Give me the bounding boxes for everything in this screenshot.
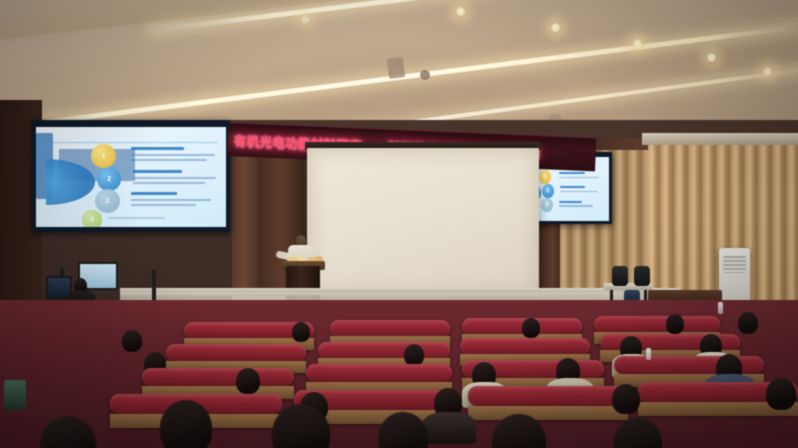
water-bottle	[646, 348, 651, 360]
slide-body-line	[133, 182, 205, 184]
slide-body-line	[559, 205, 593, 207]
slide-body-line	[131, 154, 215, 156]
ceiling-speaker-icon	[420, 70, 430, 80]
seat-row	[166, 344, 306, 361]
ceiling-downlight	[300, 14, 311, 25]
seat-row	[594, 316, 720, 333]
slide-bullet-heading	[133, 170, 182, 173]
slide-body-line	[559, 177, 598, 179]
slide-bullet-heading	[559, 201, 582, 203]
attendee-head	[122, 330, 142, 352]
attendee-head-foreground	[160, 400, 212, 448]
seat-row	[468, 386, 628, 406]
seat-row	[330, 320, 450, 337]
stage-chair	[634, 266, 650, 286]
slide-step-bubble-3: 3	[95, 189, 120, 213]
ceiling-downlight	[706, 52, 717, 63]
attendee-head	[292, 322, 310, 342]
ceiling-downlight	[632, 38, 643, 49]
air-conditioner-grill	[723, 256, 746, 273]
writing-desk	[468, 406, 628, 420]
slide-step-bubble-2: 2	[542, 184, 553, 198]
attendee-head	[766, 378, 796, 410]
slide-step-bubble-2: 2	[97, 167, 122, 191]
seat-row	[306, 364, 452, 382]
slide-bullet-heading	[559, 172, 585, 174]
seat-row	[318, 342, 450, 359]
lecture-hall-photo: 1 2 3 4 1 2 3 有机光电功能材料研究——新型荧光材料的设计及应用	[0, 0, 798, 448]
slide-body-line	[133, 177, 217, 179]
attendee-head	[612, 384, 640, 414]
ceiling-downlight	[550, 22, 561, 33]
left-screen-slide: 1 2 3 4	[36, 127, 226, 227]
attendee-head	[522, 318, 540, 338]
slide-body-line	[560, 191, 598, 193]
attendee-head	[666, 314, 684, 334]
slide-step-bubble-1: 1	[91, 144, 116, 168]
attendee-head	[404, 344, 424, 366]
slide-bullet-heading	[131, 147, 184, 150]
stage-chair	[612, 266, 628, 286]
attendee-head	[738, 312, 758, 334]
slide-bullet-heading	[560, 186, 584, 188]
slide-body-line	[108, 217, 165, 219]
center-projection-screen	[307, 148, 539, 296]
slide-body-line	[131, 159, 207, 161]
waste-bin	[4, 380, 26, 410]
ceiling-downlight	[455, 6, 466, 17]
slide-bullet-heading	[131, 192, 177, 195]
seat-row	[460, 338, 590, 355]
slide-step-bubble-4: 4	[82, 210, 103, 227]
slide-step-bubble-1: 1	[539, 170, 550, 184]
ceiling-downlight	[762, 66, 773, 77]
wall-panel-left	[232, 150, 258, 300]
slide-header-rule	[44, 132, 219, 143]
ceiling-vent	[387, 57, 405, 79]
slide-body-line	[131, 199, 211, 201]
curtain-valance	[642, 133, 798, 145]
attendee-head	[236, 368, 260, 394]
seat-row	[142, 368, 294, 386]
slide-body-line	[131, 204, 196, 206]
slide-step-bubble-3: 3	[541, 198, 552, 212]
water-bottle	[718, 302, 723, 314]
attendee-body	[422, 412, 476, 444]
